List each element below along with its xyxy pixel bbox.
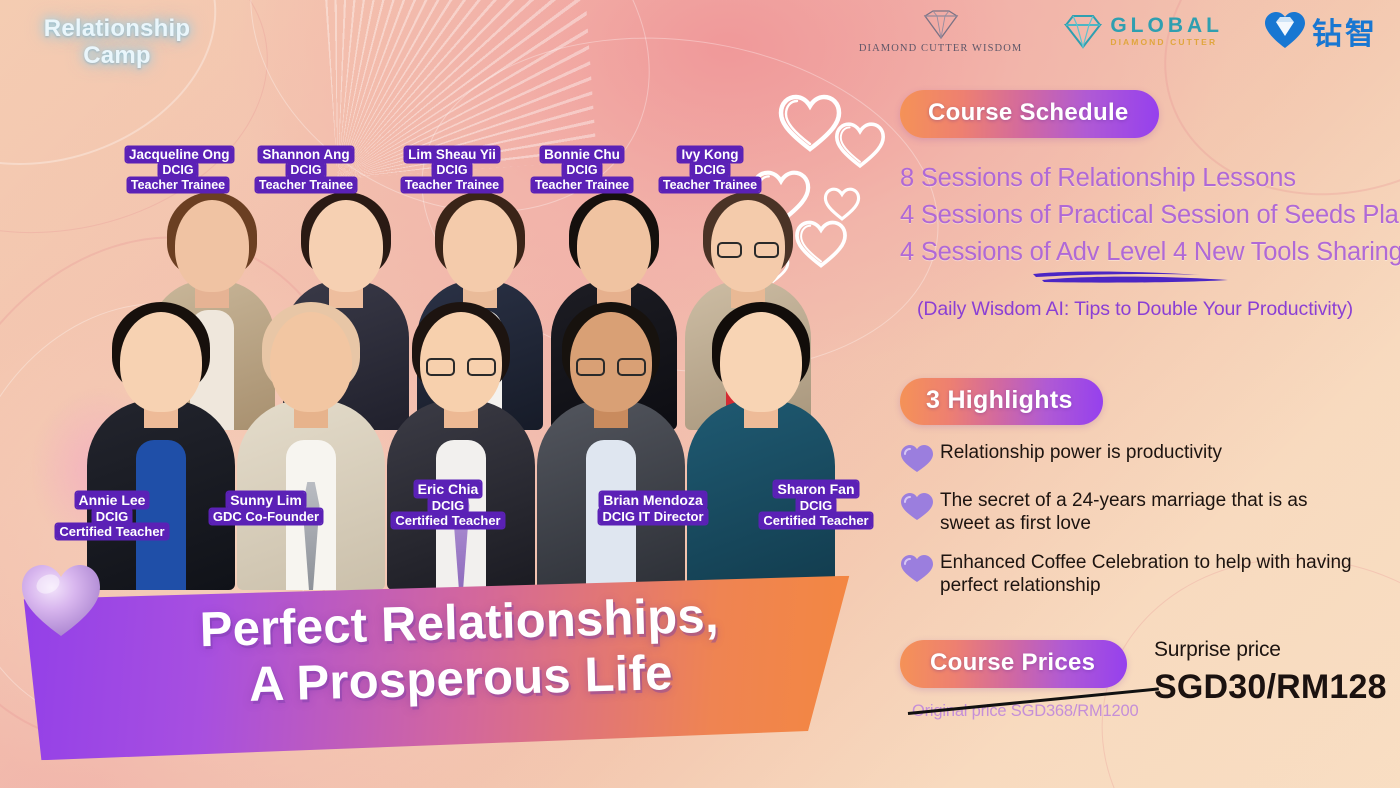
heart-bullet-icon (900, 554, 934, 584)
person-label: Annie Lee DCIG Certified Teacher (36, 492, 188, 539)
person-label: Jacqueline Ong DCIG Teacher Trainee (126, 147, 230, 192)
person-label: Ivy Kong DCIG Teacher Trainee (658, 147, 762, 192)
person-role: Certified Teacher (36, 524, 188, 539)
person-role: Certified Teacher (372, 513, 524, 528)
highlight-item: The secret of a 24-years marriage that i… (900, 487, 1360, 536)
headshot (388, 300, 534, 590)
person-label: Sunny Lim GDC Co-Founder (190, 492, 342, 524)
highlight-text: The secret of a 24-years marriage that i… (940, 487, 1360, 536)
highlights-pill: 3 Highlights (900, 378, 1103, 425)
person-card (388, 300, 534, 590)
person-label: Lim Sheau Yii DCIG Teacher Trainee (400, 147, 504, 192)
schedule-line: 8 Sessions of Relationship Lessons (900, 160, 1400, 197)
surprise-price-block: Surprise price SGD30/RM128 (1154, 638, 1387, 707)
poster-canvas: Relationship Camp DIAMOND CUTTER WISDOM … (0, 0, 1400, 788)
person-name: Ivy Kong (658, 147, 762, 163)
highlights-list: Relationship power is productivity The s… (900, 439, 1360, 598)
doodle-heart-icon (775, 92, 845, 154)
highlight-text: Enhanced Coffee Celebration to help with… (940, 549, 1360, 598)
person-role: Teacher Trainee (254, 178, 358, 193)
person-label: Eric Chia DCIG Certified Teacher (372, 481, 524, 528)
person-role: DCIG IT Director (573, 509, 733, 524)
headshot (688, 300, 834, 590)
person-org: DCIG (530, 163, 634, 178)
person-card (688, 300, 834, 590)
highlight-item: Relationship power is productivity (900, 439, 1360, 474)
glasses-icon (576, 358, 646, 374)
person-role: Teacher Trainee (530, 178, 634, 193)
heart-3d-icon (18, 560, 104, 640)
highlight-text: Relationship power is productivity (940, 439, 1222, 465)
person-org: DCIG (372, 498, 524, 513)
camp-line-1: Relationship (44, 15, 190, 42)
person-role: Teacher Trainee (126, 178, 230, 193)
brush-stroke-icon (1030, 268, 1240, 285)
person-org: DCIG (254, 163, 358, 178)
person-org: DCIG (740, 498, 892, 513)
main-title: Perfect Relationships, A Prosperous Life (109, 586, 812, 717)
person-card (238, 300, 384, 590)
person-card (538, 300, 684, 590)
person-role: GDC Co-Founder (190, 509, 342, 524)
person-name: Shannon Ang (254, 147, 358, 163)
heart-bullet-icon (900, 444, 934, 474)
brush-underline-wrap (900, 272, 1400, 290)
relationship-camp-badge: Relationship Camp (26, 16, 208, 70)
person-org: DCIG (658, 163, 762, 178)
headshot (538, 300, 684, 590)
person-name: Bonnie Chu (530, 147, 634, 163)
info-column: Course Schedule 8 Sessions of Relationsh… (892, 0, 1400, 788)
person-org: DCIG (36, 509, 188, 524)
heart-bullet-icon (900, 492, 934, 522)
surprise-price-value: SGD30/RM128 (1154, 668, 1387, 707)
person-name: Sunny Lim (190, 492, 342, 509)
person-role: Teacher Trainee (658, 178, 762, 193)
person-name: Annie Lee (36, 492, 188, 509)
surprise-price-label: Surprise price (1154, 638, 1387, 662)
headshot (238, 300, 384, 590)
person-org: DCIG (126, 163, 230, 178)
schedule-line: 4 Sessions of Practical Session of Seeds… (900, 197, 1400, 234)
person-org: DCIG (400, 163, 504, 178)
course-prices-pill: Course Prices (900, 640, 1127, 688)
person-role: Certified Teacher (740, 513, 892, 528)
course-schedule-pill: Course Schedule (900, 90, 1159, 138)
person-name: Eric Chia (372, 481, 524, 498)
glasses-icon (717, 242, 779, 258)
person-label: Brian Mendoza DCIG IT Director (573, 492, 733, 524)
person-label: Sharon Fan DCIG Certified Teacher (740, 481, 892, 528)
original-price-wrap: Original price SGD368/RM1200 (912, 702, 1138, 721)
schedule-note: (Daily Wisdom AI: Tips to Double Your Pr… (900, 298, 1370, 321)
person-name: Jacqueline Ong (126, 147, 230, 163)
schedule-line: 4 Sessions of Adv Level 4 New Tools Shar… (900, 234, 1400, 271)
glasses-icon (426, 358, 496, 374)
person-card (88, 300, 234, 590)
person-label: Bonnie Chu DCIG Teacher Trainee (530, 147, 634, 192)
person-name: Brian Mendoza (573, 492, 733, 509)
front-row (88, 300, 834, 590)
person-name: Lim Sheau Yii (400, 147, 504, 163)
person-label: Shannon Ang DCIG Teacher Trainee (254, 147, 358, 192)
headshot (88, 300, 234, 590)
camp-line-2: Camp (83, 42, 150, 69)
person-name: Sharon Fan (740, 481, 892, 498)
person-role: Teacher Trainee (400, 178, 504, 193)
highlight-item: Enhanced Coffee Celebration to help with… (900, 549, 1360, 598)
schedule-lines: 8 Sessions of Relationship Lessons 4 Ses… (900, 160, 1400, 321)
